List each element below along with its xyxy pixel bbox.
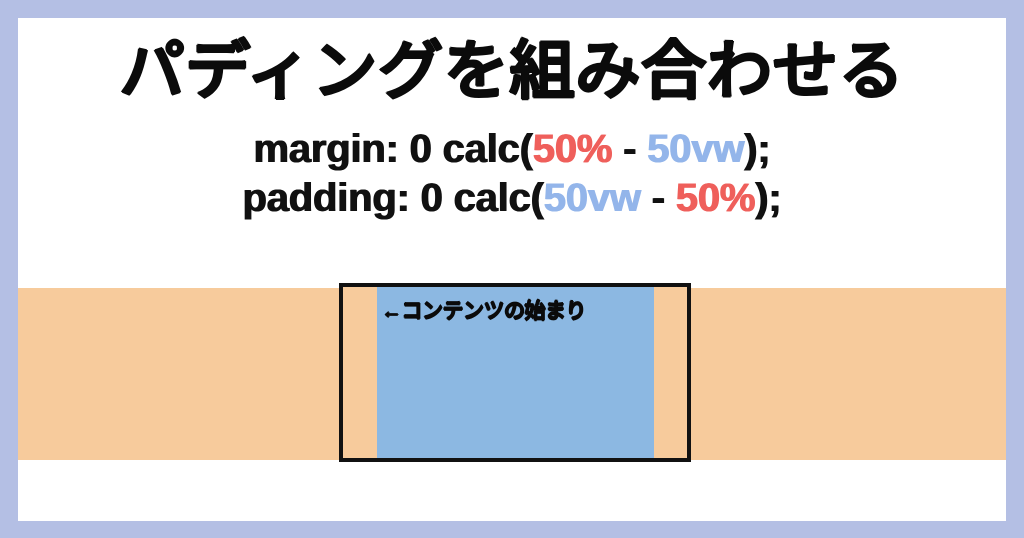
code-token-viewport: 50vw: [544, 176, 641, 220]
content-start-label: ←コンテンツの始まり: [381, 301, 586, 322]
code-token-plain: padding: 0 calc(: [242, 176, 543, 220]
code-token-terminator: );: [755, 176, 781, 220]
code-token-percent: 50%: [676, 176, 755, 220]
page-title: パディングを組み合わせる: [120, 38, 905, 105]
code-token-terminator: );: [744, 127, 770, 171]
content-area: ←コンテンツの始まり: [377, 287, 654, 458]
code-snippet: margin: 0 calc(50% - 50vw); padding: 0 c…: [242, 125, 781, 223]
content-box: ←コンテンツの始まり: [339, 283, 691, 462]
code-token-operator: -: [612, 127, 647, 171]
code-token-percent: 50%: [533, 127, 612, 171]
code-token-operator: -: [641, 176, 676, 220]
code-line-padding: padding: 0 calc(50vw - 50%);: [242, 174, 781, 223]
code-line-margin: margin: 0 calc(50% - 50vw);: [242, 125, 781, 174]
slide-frame: パディングを組み合わせる margin: 0 calc(50% - 50vw);…: [0, 0, 1024, 538]
heading-block: パディングを組み合わせる margin: 0 calc(50% - 50vw);…: [18, 18, 1006, 288]
slide-card: パディングを組み合わせる margin: 0 calc(50% - 50vw);…: [18, 18, 1006, 521]
code-token-viewport: 50vw: [647, 127, 744, 171]
code-token-plain: margin: 0 calc(: [253, 127, 532, 171]
